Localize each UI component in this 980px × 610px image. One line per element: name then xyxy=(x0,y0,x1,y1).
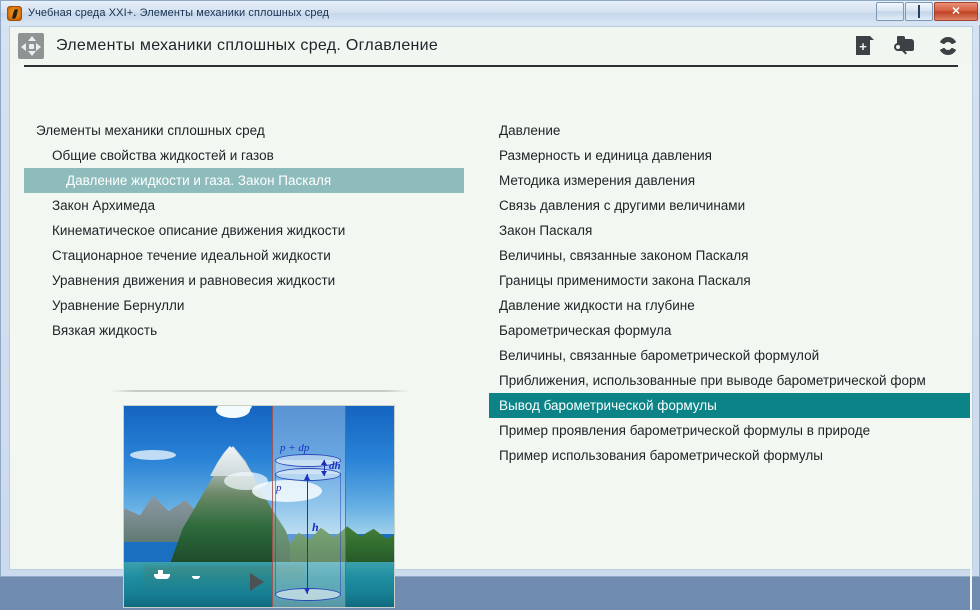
toc-item[interactable]: Стационарное течение идеальной жидкости xyxy=(10,243,480,268)
toc-item[interactable]: Вязкая жидкость xyxy=(10,318,480,343)
column-walls xyxy=(275,474,341,594)
application-window: Учебная среда XXI+. Элементы механики сп… xyxy=(0,0,980,577)
toc-item[interactable]: Барометрическая формула xyxy=(489,318,972,343)
height-arrow-icon xyxy=(307,474,308,594)
cloud-icon xyxy=(130,450,176,460)
toc-item[interactable]: Приближения, использованные при выводе б… xyxy=(489,368,972,393)
app-logo-icon xyxy=(7,6,22,21)
header-divider xyxy=(24,65,958,67)
play-triangle-icon[interactable] xyxy=(250,573,264,591)
page-title: Элементы механики сплошных сред. Оглавле… xyxy=(56,37,438,55)
toc-item[interactable]: Кинематическое описание движения жидкост… xyxy=(10,218,480,243)
toc-item[interactable]: Вывод барометрической формулы xyxy=(489,393,972,418)
label-pressure-top: p + dp xyxy=(280,442,309,454)
toc-item[interactable]: Связь давления с другими величинами xyxy=(489,193,972,218)
toc-body: Элементы механики сплошных средОбщие сво… xyxy=(10,68,972,569)
search-folder-icon[interactable] xyxy=(894,33,918,59)
slice-height-arrow-icon xyxy=(324,460,325,476)
toc-item[interactable]: Методика измерения давления xyxy=(489,168,972,193)
help-ring-icon[interactable] xyxy=(936,33,960,59)
toc-item[interactable]: Закон Паскаля xyxy=(489,218,972,243)
toc-item[interactable]: Давление жидкости и газа. Закон Паскаля xyxy=(24,168,464,193)
toc-item[interactable]: Общие свойства жидкостей и газов xyxy=(10,143,480,168)
page-header: Элементы механики сплошных сред. Оглавле… xyxy=(10,27,972,65)
right-edge-mask xyxy=(970,109,972,610)
label-column-height: h xyxy=(312,520,319,535)
window-controls: ✕ xyxy=(876,2,978,21)
close-button[interactable]: ✕ xyxy=(934,2,978,21)
toc-item[interactable]: Пример использования барометрической фор… xyxy=(489,443,972,468)
toc-item[interactable]: Размерность и единица давления xyxy=(489,143,972,168)
label-pressure-bottom: p xyxy=(276,482,282,494)
label-slice-height: dh xyxy=(329,460,341,472)
content-panel: Элементы механики сплошных сред. Оглавле… xyxy=(9,26,973,570)
toc-item[interactable]: Элементы механики сплошных сред xyxy=(10,118,480,143)
section-divider xyxy=(110,390,410,392)
toc-item[interactable]: Величины, связанные барометрической форм… xyxy=(489,343,972,368)
header-toolbar xyxy=(852,33,960,59)
toc-item[interactable]: Закон Архимеда xyxy=(10,193,480,218)
toc-item[interactable]: Границы применимости закона Паскаля xyxy=(489,268,972,293)
toc-left-column: Элементы механики сплошных средОбщие сво… xyxy=(10,118,480,343)
toc-item[interactable]: Величины, связанные законом Паскаля xyxy=(489,243,972,268)
maximize-button[interactable] xyxy=(905,2,933,21)
toc-item[interactable]: Давление жидкости на глубине xyxy=(489,293,972,318)
toc-item[interactable]: Пример проявления барометрической формул… xyxy=(489,418,972,443)
four-arrow-move-icon[interactable] xyxy=(18,33,44,59)
toc-item[interactable]: Давление xyxy=(489,118,972,143)
window-title-bar: Учебная среда XXI+. Элементы механики сп… xyxy=(1,1,980,25)
toc-item[interactable]: Уравнение Бернулли xyxy=(10,293,480,318)
new-document-icon[interactable] xyxy=(852,33,876,59)
window-title-text: Учебная среда XXI+. Элементы механики сп… xyxy=(28,7,329,19)
toc-right-column: ДавлениеРазмерность и единица давленияМе… xyxy=(489,118,972,468)
minimize-button[interactable] xyxy=(876,2,904,21)
toc-item[interactable]: Уравнения движения и равновесия жидкости xyxy=(10,268,480,293)
